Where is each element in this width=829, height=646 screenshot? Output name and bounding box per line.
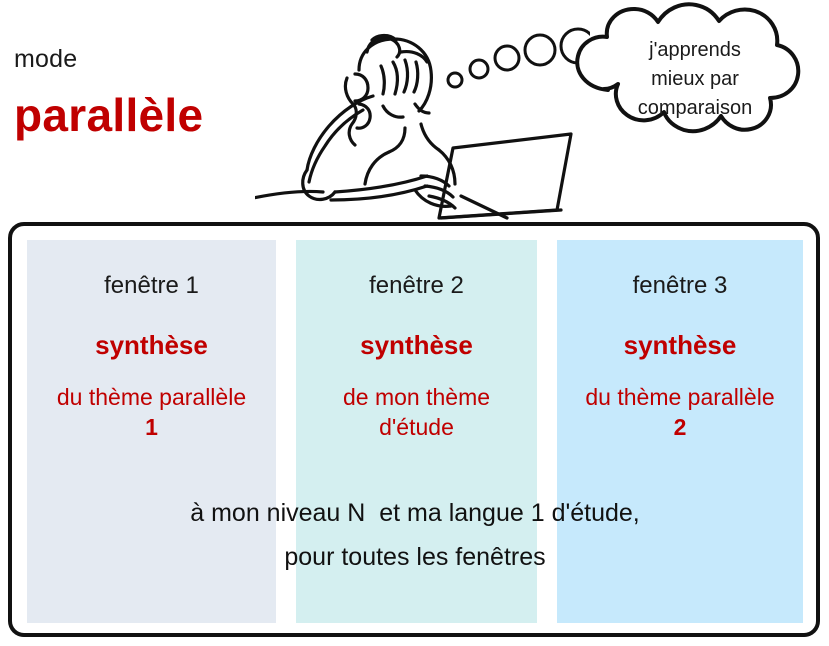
panel-2-subtitle-2: d'étude: [296, 413, 537, 443]
thought-line-1: j'apprends: [600, 36, 790, 65]
panel-1-number: 1: [27, 413, 276, 443]
panel-fenetre-3[interactable]: fenêtre 3 synthèse du thème parallèle 2: [557, 240, 803, 623]
thought-line-2: mieux par: [600, 65, 790, 94]
panel-1-title: fenêtre 1: [27, 272, 276, 300]
panel-3-subtitle: du thème parallèle: [557, 383, 803, 413]
panel-fenetre-1[interactable]: fenêtre 1 synthèse du thème parallèle 1: [27, 240, 276, 623]
panel-2-subtitle: de mon thème: [296, 383, 537, 413]
panel-2-title: fenêtre 2: [296, 272, 537, 300]
panel-3-content: fenêtre 3 synthèse du thème parallèle 2: [557, 272, 803, 443]
mode-label: mode: [14, 45, 77, 74]
panel-1-heading: synthèse: [27, 330, 276, 361]
panel-3-heading: synthèse: [557, 330, 803, 361]
panel-3-number: 2: [557, 413, 803, 443]
panel-2-content: fenêtre 2 synthèse de mon thème d'étude: [296, 272, 537, 443]
panel-fenetre-2[interactable]: fenêtre 2 synthèse de mon thème d'étude: [296, 240, 537, 623]
panel-3-title: fenêtre 3: [557, 272, 803, 300]
thought-bubble-text: j'apprends mieux par comparaison: [600, 36, 790, 123]
thought-line-3: comparaison: [600, 94, 790, 123]
panel-2-heading: synthèse: [296, 330, 537, 361]
page-title: parallèle: [14, 88, 203, 142]
slide-root: mode parallèle: [0, 0, 829, 646]
panel-1-subtitle: du thème parallèle: [27, 383, 276, 413]
panel-1-content: fenêtre 1 synthèse du thème parallèle 1: [27, 272, 276, 443]
